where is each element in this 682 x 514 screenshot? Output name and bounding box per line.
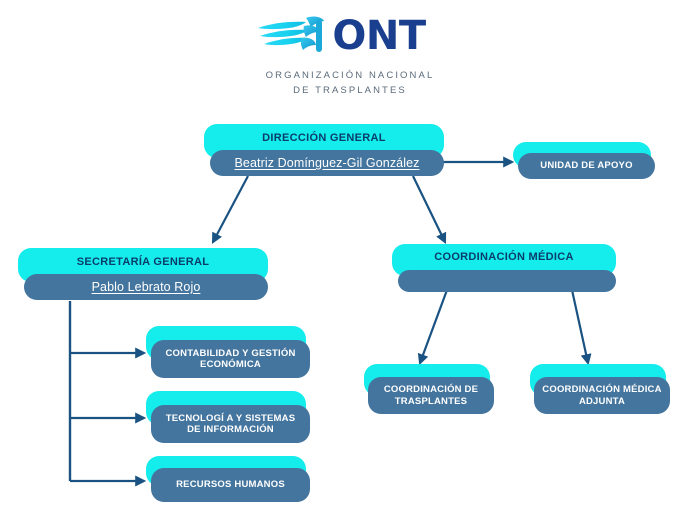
logo-subtitle-line2: DE TRASPLANTES (18, 84, 682, 99)
node-unidad-de-apoyo[interactable]: UNIDAD DE APOYO (513, 142, 655, 180)
node-coordinacion-de-trasplantes[interactable]: COORDINACIÓN DE TRASPLANTES (364, 364, 494, 414)
logo-subtitle-line1: ORGANIZACIÓN NACIONAL (18, 69, 682, 84)
node-secretaria-general-title: SECRETARÍA GENERAL (18, 248, 268, 276)
node-contabilidad-title-line2: ECONÓMICA (200, 359, 261, 370)
node-coordinacion-trasplantes-label-bar[interactable]: COORDINACIÓN DE TRASPLANTES (368, 377, 494, 414)
node-unidad-de-apoyo-label-bar[interactable]: UNIDAD DE APOYO (518, 153, 655, 179)
node-coordinacion-adjunta-title-line2: ADJUNTA (579, 396, 625, 407)
node-secretaria-general-person-link[interactable]: Pablo Lebrato Rojo (84, 280, 209, 294)
node-direccion-general-title: DIRECCIÓN GENERAL (204, 124, 444, 152)
node-direccion-general-person-bar[interactable]: Beatriz Domínguez-Gil González (210, 150, 444, 176)
node-coordinacion-medica-title: COORDINACIÓN MÉDICA (392, 244, 616, 270)
node-tecnologia-sistemas-informacion[interactable]: TECNOLOGÍ A Y SISTEMAS DE INFORMACIÓN (146, 391, 310, 443)
node-recursos-humanos-label-bar[interactable]: RECURSOS HUMANOS (151, 468, 310, 502)
connector-coordinacion-to-adjunta (572, 290, 588, 363)
node-secretaria-general-person-bar[interactable]: Pablo Lebrato Rojo (24, 274, 268, 300)
node-tecnologia-title-line1: TECNOLOGÍ A Y SISTEMAS (166, 413, 296, 424)
node-coordinacion-trasplantes-title: COORDINACIÓN DE TRASPLANTES (376, 384, 486, 406)
node-tecnologia-title-line2: DE INFORMACIÓN (187, 424, 274, 435)
connector-coordinacion-to-trasplantes (420, 290, 447, 363)
node-contabilidad-label-bar[interactable]: CONTABILIDAD Y GESTIÓN ECONÓMICA (151, 340, 310, 378)
ont-wing-logo-icon (256, 12, 334, 60)
node-coordinacion-medica-bottom-bar[interactable] (398, 270, 616, 292)
connector-direccion-to-coordinacion (413, 176, 445, 242)
node-contabilidad-gestion-economica[interactable]: CONTABILIDAD Y GESTIÓN ECONÓMICA (146, 326, 310, 378)
logo-wordmark: ONT (332, 16, 425, 56)
node-direccion-general-person-link[interactable]: Beatriz Domínguez-Gil González (226, 156, 427, 170)
node-direccion-general[interactable]: DIRECCIÓN GENERAL Beatriz Domínguez-Gil … (204, 124, 444, 176)
node-tecnologia-title: TECNOLOGÍ A Y SISTEMAS DE INFORMACIÓN (158, 413, 304, 435)
logo-row: ONT (256, 12, 425, 60)
node-unidad-de-apoyo-title: UNIDAD DE APOYO (532, 160, 640, 171)
node-coordinacion-adjunta-title-line1: COORDINACIÓN MÉDICA (542, 384, 661, 395)
node-contabilidad-title: CONTABILIDAD Y GESTIÓN ECONÓMICA (157, 348, 303, 370)
node-coordinacion-medica-adjunta[interactable]: COORDINACIÓN MÉDICA ADJUNTA (530, 364, 670, 414)
node-coordinacion-trasplantes-title-line1: COORDINACIÓN DE (384, 384, 478, 395)
ont-logo: ONT ORGANIZACIÓN NACIONAL DE TRASPLANTES (0, 12, 682, 98)
node-recursos-humanos[interactable]: RECURSOS HUMANOS (146, 456, 310, 504)
connector-direccion-to-secretaria (213, 176, 248, 242)
node-secretaria-general[interactable]: SECRETARÍA GENERAL Pablo Lebrato Rojo (18, 248, 268, 300)
node-coordinacion-adjunta-label-bar[interactable]: COORDINACIÓN MÉDICA ADJUNTA (534, 377, 670, 414)
logo-subtitle: ORGANIZACIÓN NACIONAL DE TRASPLANTES (0, 69, 682, 98)
node-tecnologia-label-bar[interactable]: TECNOLOGÍ A Y SISTEMAS DE INFORMACIÓN (151, 405, 310, 443)
node-contabilidad-title-line1: CONTABILIDAD Y GESTIÓN (165, 348, 295, 359)
node-coordinacion-medica[interactable]: COORDINACIÓN MÉDICA (392, 244, 616, 292)
node-recursos-humanos-title: RECURSOS HUMANOS (168, 479, 293, 490)
node-coordinacion-adjunta-title: COORDINACIÓN MÉDICA ADJUNTA (534, 384, 669, 406)
node-coordinacion-trasplantes-title-line2: TRASPLANTES (395, 396, 467, 407)
